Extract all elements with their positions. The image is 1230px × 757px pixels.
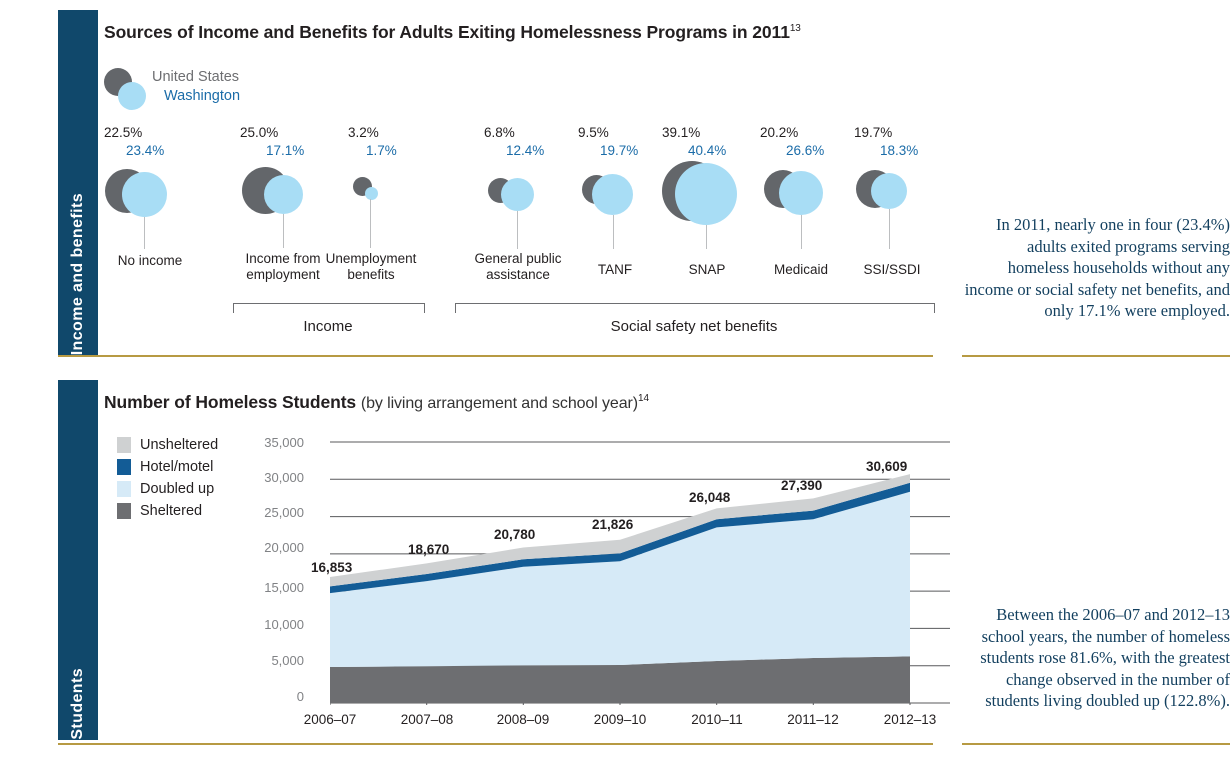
bubble-wa-tanf [592,174,633,215]
homeless-students-area-chart [330,440,950,705]
y-tick-25000: 25,000 [240,505,304,520]
x-tick-2006-07: 2006–07 [280,712,380,727]
legend-item-sheltered: Sheltered [117,500,218,522]
x-tick-2010-11: 2010–11 [667,712,767,727]
legend-item-hotel-motel: Hotel/motel [117,456,218,478]
category-label-unemployment: Unemployment benefits [316,251,426,283]
x-tick-2008-09: 2008–09 [473,712,573,727]
bracket-income [233,303,425,313]
income-and-benefits-panel: Income and benefits Sources of Income an… [0,0,1230,365]
x-tick-2009-10: 2009–10 [570,712,670,727]
category-label-snap: SNAP [660,262,754,278]
pct-wa-gpa: 12.4% [506,143,544,158]
students-section-title: Number of Homeless Students (by living a… [104,392,649,413]
pct-us-gpa: 6.8% [484,125,515,140]
leader-line-no-income [144,217,145,249]
pct-wa-income-employment: 17.1% [266,143,304,158]
legend-item-doubled-up: Doubled up [117,478,218,500]
leader-line-unemployment [370,199,371,248]
bubble-wa-snap [675,163,737,225]
leader-line-gpa [517,211,518,249]
pct-wa-snap: 40.4% [688,143,726,158]
income-section-title-text: Sources of Income and Benefits for Adult… [104,22,790,42]
y-tick-30000: 30,000 [240,470,304,485]
category-label-gpa: General public assistance [466,251,570,283]
panel-spine-income: Income and benefits [58,10,98,355]
x-tick-2007-08: 2007–08 [377,712,477,727]
x-tick-2012-13: 2012–13 [860,712,960,727]
spine-label-students: Students [69,654,87,740]
gold-divider-income-quote [962,355,1230,357]
legend-us-label: United States [152,69,239,85]
bubble-legend: United States Washington [104,68,344,114]
income-pull-quote: In 2011, nearly one in four (23.4%) adul… [962,214,1230,322]
panel-spine-students: Students [58,380,98,740]
data-label-2009-10: 21,826 [592,517,633,532]
gold-divider-students-quote [962,743,1230,745]
pct-us-tanf: 9.5% [578,125,609,140]
pct-us-snap: 39.1% [662,125,700,140]
legend-label-doubled-up: Doubled up [140,481,214,497]
income-title-footnote: 13 [790,23,801,34]
pct-us-ssi: 19.7% [854,125,892,140]
category-label-no-income: No income [90,253,210,269]
legend-swatch-hotel-motel-icon [117,459,131,475]
pct-wa-no-income: 23.4% [126,143,164,158]
gold-divider-students [58,743,933,745]
legend-swatch-unsheltered-icon [117,437,131,453]
y-tick-10000: 10,000 [240,617,304,632]
legend-swatch-doubled-up-icon [117,481,131,497]
legend-item-unsheltered: Unsheltered [117,434,218,456]
leader-line-tanf [613,215,614,249]
y-tick-0: 0 [240,689,304,704]
data-label-2010-11: 26,048 [689,490,730,505]
pct-us-income-employment: 25.0% [240,125,278,140]
category-label-tanf: TANF [570,262,660,278]
pct-us-unemployment: 3.2% [348,125,379,140]
bubble-wa-gpa [501,178,534,211]
legend-wa-dot-icon [118,82,146,110]
bubble-wa-medicaid [779,171,823,215]
bubble-wa-ssi [871,173,907,209]
y-tick-5000: 5,000 [240,653,304,668]
y-tick-35000: 35,000 [240,435,304,450]
income-section-title: Sources of Income and Benefits for Adult… [104,22,801,43]
students-pull-quote: Between the 2006–07 and 2012–13 school y… [962,604,1230,712]
pct-wa-ssi: 18.3% [880,143,918,158]
pct-us-medicaid: 20.2% [760,125,798,140]
data-label-2006-07: 16,853 [311,560,352,575]
legend-swatch-sheltered-icon [117,503,131,519]
legend-label-unsheltered: Unsheltered [140,437,218,453]
y-tick-20000: 20,000 [240,540,304,555]
legend-wa-label: Washington [164,88,240,104]
bubble-wa-income-employment [264,175,303,214]
pct-wa-medicaid: 26.6% [786,143,824,158]
data-label-2011-12: 27,390 [781,478,822,493]
pct-wa-tanf: 19.7% [600,143,638,158]
chart-legend: Unsheltered Hotel/motel Doubled up Shelt… [117,434,218,522]
pct-wa-unemployment: 1.7% [366,143,397,158]
gold-divider-income [58,355,933,357]
category-label-medicaid: Medicaid [752,262,850,278]
leader-line-medicaid [801,215,802,249]
legend-label-sheltered: Sheltered [140,503,202,519]
data-label-2008-09: 20,780 [494,527,535,542]
students-section-title-text: Number of Homeless Students [104,392,356,412]
data-label-2012-13: 30,609 [866,459,907,474]
leader-line-snap [706,225,707,249]
y-tick-15000: 15,000 [240,580,304,595]
bracket-label-social-safety-net: Social safety net benefits [455,318,933,335]
bubble-wa-unemployment [365,187,378,200]
bracket-label-income: Income [233,318,423,335]
bracket-social-safety-net [455,303,935,313]
bubble-wa-no-income [122,172,167,217]
spine-label-income: Income and benefits [69,179,87,355]
students-title-footnote: 14 [638,393,649,404]
pct-us-no-income: 22.5% [104,125,142,140]
students-section-subtitle: (by living arrangement and school year) [361,395,638,412]
x-tick-2011-12: 2011–12 [763,712,863,727]
leader-line-income-employment [283,214,284,248]
leader-line-ssi [889,209,890,249]
category-label-ssi: SSI/SSDI [844,262,940,278]
legend-label-hotel-motel: Hotel/motel [140,459,213,475]
data-label-2007-08: 18,670 [408,542,449,557]
